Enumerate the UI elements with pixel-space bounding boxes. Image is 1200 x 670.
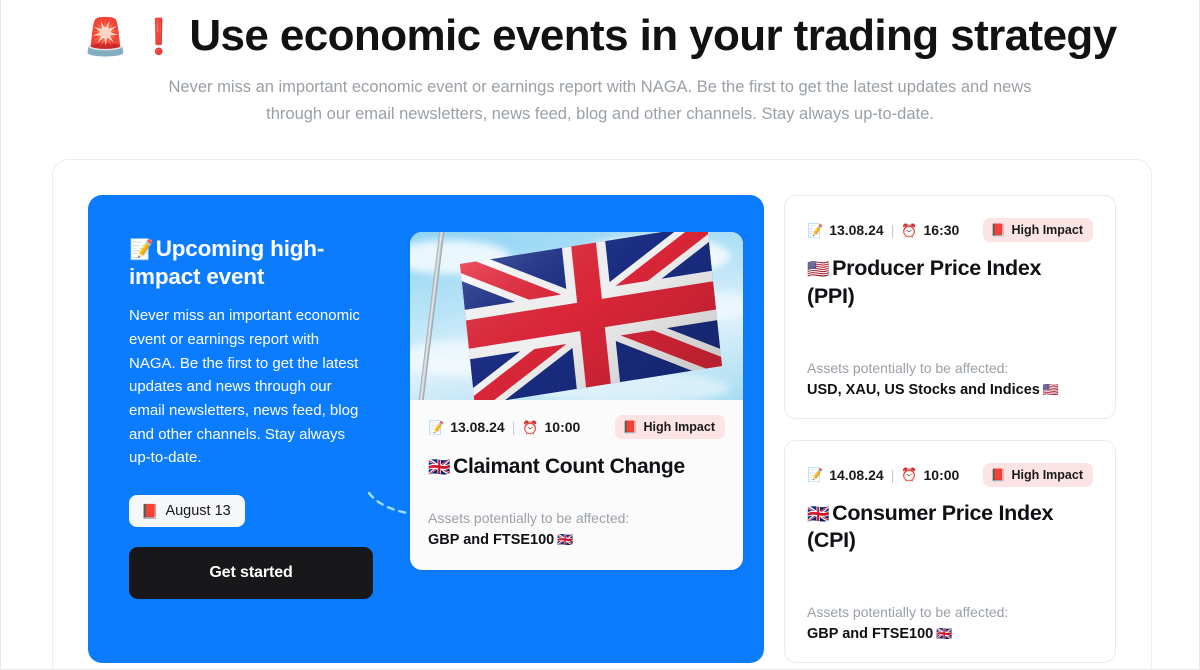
memo-icon: 📝 [807,224,823,237]
page-title-text: Use economic events in your trading stra… [189,10,1116,62]
events-panel: 📝Upcoming high-impact event Never miss a… [52,159,1152,670]
side-event-meta: 📝 14.08.24 | ⏰ 10:00 📕 High Impact [807,463,1093,487]
page-title: 🚨 ❗ Use economic events in your trading … [1,10,1199,62]
memo-icon: 📝 [129,239,154,261]
meta-separator: | [512,419,516,435]
country-flag-icon: 🇬🇧 [428,457,450,477]
impact-label: High Impact [643,420,715,434]
country-flag-icon: 🇺🇸 [807,259,829,279]
country-flag-icon: 🇺🇸 [1043,382,1059,397]
side-event-title: 🇬🇧Consumer Price Index (CPI) [807,500,1093,556]
memo-icon: 📝 [428,421,444,434]
featured-event-title: 🇬🇧Claimant Count Change [428,453,725,480]
page-header: 🚨 ❗ Use economic events in your trading … [1,0,1199,127]
side-assets-value: USD, XAU, US Stocks and Indices🇺🇸 [807,382,1093,398]
alarm-clock-icon: ⏰ [522,421,538,434]
alarm-clock-icon: ⏰ [901,224,917,237]
memo-icon: 📝 [807,468,823,481]
meta-separator: | [891,222,895,238]
alarm-clock-icon: ⏰ [901,468,917,481]
status-badge: 📕 High Impact [983,463,1094,487]
side-event-time: 16:30 [924,222,960,238]
side-event-title-text: Producer Price Index (PPI) [807,256,1041,308]
calendar-icon: 📕 [141,504,158,518]
promo-date-label: August 13 [165,503,230,519]
side-events-column: 📝 13.08.24 | ⏰ 16:30 📕 High Impact 🇺🇸Pro… [784,195,1116,663]
impact-label: High Impact [1011,468,1083,482]
siren-icon: 🚨 [83,19,127,55]
side-event-title: 🇺🇸Producer Price Index (PPI) [807,255,1093,311]
status-badge: 📕 High Impact [983,218,1094,242]
side-event-date: 14.08.24 [829,467,884,483]
promo-date-pill[interactable]: 📕 August 13 [129,495,245,527]
status-badge: 📕 High Impact [615,415,726,439]
side-assets-label: Assets potentially to be affected: [807,340,1093,376]
featured-event-body: 📝 13.08.24 | ⏰ 10:00 📕 High Impact 🇬🇧C [410,400,743,570]
side-event-datetime: 📝 13.08.24 | ⏰ 16:30 [807,222,959,238]
featured-event-date: 13.08.24 [450,419,505,435]
country-flag-icon: 🇬🇧 [807,504,829,524]
impact-icon: 📕 [991,469,1006,481]
side-event-card-ppi[interactable]: 📝 13.08.24 | ⏰ 16:30 📕 High Impact 🇺🇸Pro… [784,195,1116,419]
featured-event-meta: 📝 13.08.24 | ⏰ 10:00 📕 High Impact [428,415,725,439]
country-flag-icon: 🇬🇧 [557,532,573,547]
side-assets-label: Assets potentially to be affected: [807,584,1093,620]
page-subtitle: Never miss an important economic event o… [160,74,1040,127]
side-assets-value: GBP and FTSE100🇬🇧 [807,626,1093,642]
side-event-meta: 📝 13.08.24 | ⏰ 16:30 📕 High Impact [807,218,1093,242]
country-flag-icon: 🇬🇧 [936,626,952,641]
promo-description: Never miss an important economic event o… [129,304,367,470]
side-event-title-text: Consumer Price Index (CPI) [807,501,1053,553]
featured-event-title-text: Claimant Count Change [453,455,685,478]
page-root: 🚨 ❗ Use economic events in your trading … [0,0,1200,670]
promo-panel: 📝Upcoming high-impact event Never miss a… [88,195,764,663]
featured-event-datetime: 📝 13.08.24 | ⏰ 10:00 [428,419,580,435]
exclamation-icon: ❗ [138,20,180,54]
impact-icon: 📕 [991,224,1006,236]
impact-icon: 📕 [623,421,638,433]
promo-title: 📝Upcoming high-impact event [129,235,367,291]
side-assets-value-text: GBP and FTSE100 [807,626,933,642]
featured-event-card[interactable]: 📝 13.08.24 | ⏰ 10:00 📕 High Impact 🇬🇧C [410,232,743,570]
featured-assets-label: Assets potentially to be affected: [428,510,725,526]
featured-event-image [410,232,743,400]
impact-label: High Impact [1011,223,1083,237]
featured-assets-value-text: GBP and FTSE100 [428,532,554,548]
featured-event-time: 10:00 [545,419,581,435]
get-started-button[interactable]: Get started [129,547,373,599]
side-event-time: 10:00 [924,467,960,483]
side-event-card-cpi[interactable]: 📝 14.08.24 | ⏰ 10:00 📕 High Impact 🇬🇧Con… [784,440,1116,664]
promo-title-text: Upcoming high-impact event [129,236,324,289]
side-assets-value-text: USD, XAU, US Stocks and Indices [807,382,1040,398]
meta-separator: | [891,467,895,483]
featured-assets-value: GBP and FTSE100🇬🇧 [428,532,725,548]
side-event-datetime: 📝 14.08.24 | ⏰ 10:00 [807,467,959,483]
side-event-date: 13.08.24 [829,222,884,238]
